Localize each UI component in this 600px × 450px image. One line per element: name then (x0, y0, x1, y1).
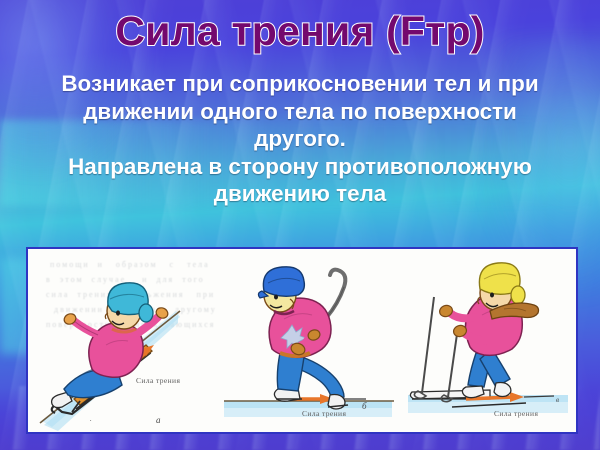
body-line-3: другого. (8, 125, 592, 153)
figure-letter-a: а (156, 415, 161, 425)
slide-title: Сила трения (Fтр) (0, 8, 600, 55)
skier-drawing (404, 249, 578, 434)
child-on-sled-drawing (28, 249, 218, 434)
body-line-2: движении одного тела по поверхности (8, 98, 592, 126)
body-line-1: Возникает при соприкосновении тел и при (8, 70, 592, 98)
figure-child-on-sled: Сила трения а . (28, 249, 218, 432)
slide-body-text: Возникает при соприкосновении тел и при … (8, 70, 592, 208)
illustration-panel: помощи и образом с тела в этом случае и … (26, 247, 578, 434)
body-line-4: Направлена в сторону противоположную (8, 153, 592, 181)
figure-letter-c: в (556, 396, 559, 404)
figure-marker-dot-a: . (90, 415, 92, 423)
caption-figure-b: Сила трения (302, 409, 346, 418)
figure-letter-b: б (362, 401, 367, 411)
body-line-5: движению тела (8, 180, 592, 208)
slide-root: Сила трения (Fтр) Возникает при соприкос… (0, 0, 600, 450)
caption-figure-a: Сила трения (136, 376, 180, 385)
caption-figure-c: Сила трения (494, 409, 538, 418)
hockey-player-drawing (218, 249, 404, 434)
figure-hockey-player: Сила трения б (218, 249, 404, 432)
figure-skier: Сила трения в (404, 249, 578, 432)
